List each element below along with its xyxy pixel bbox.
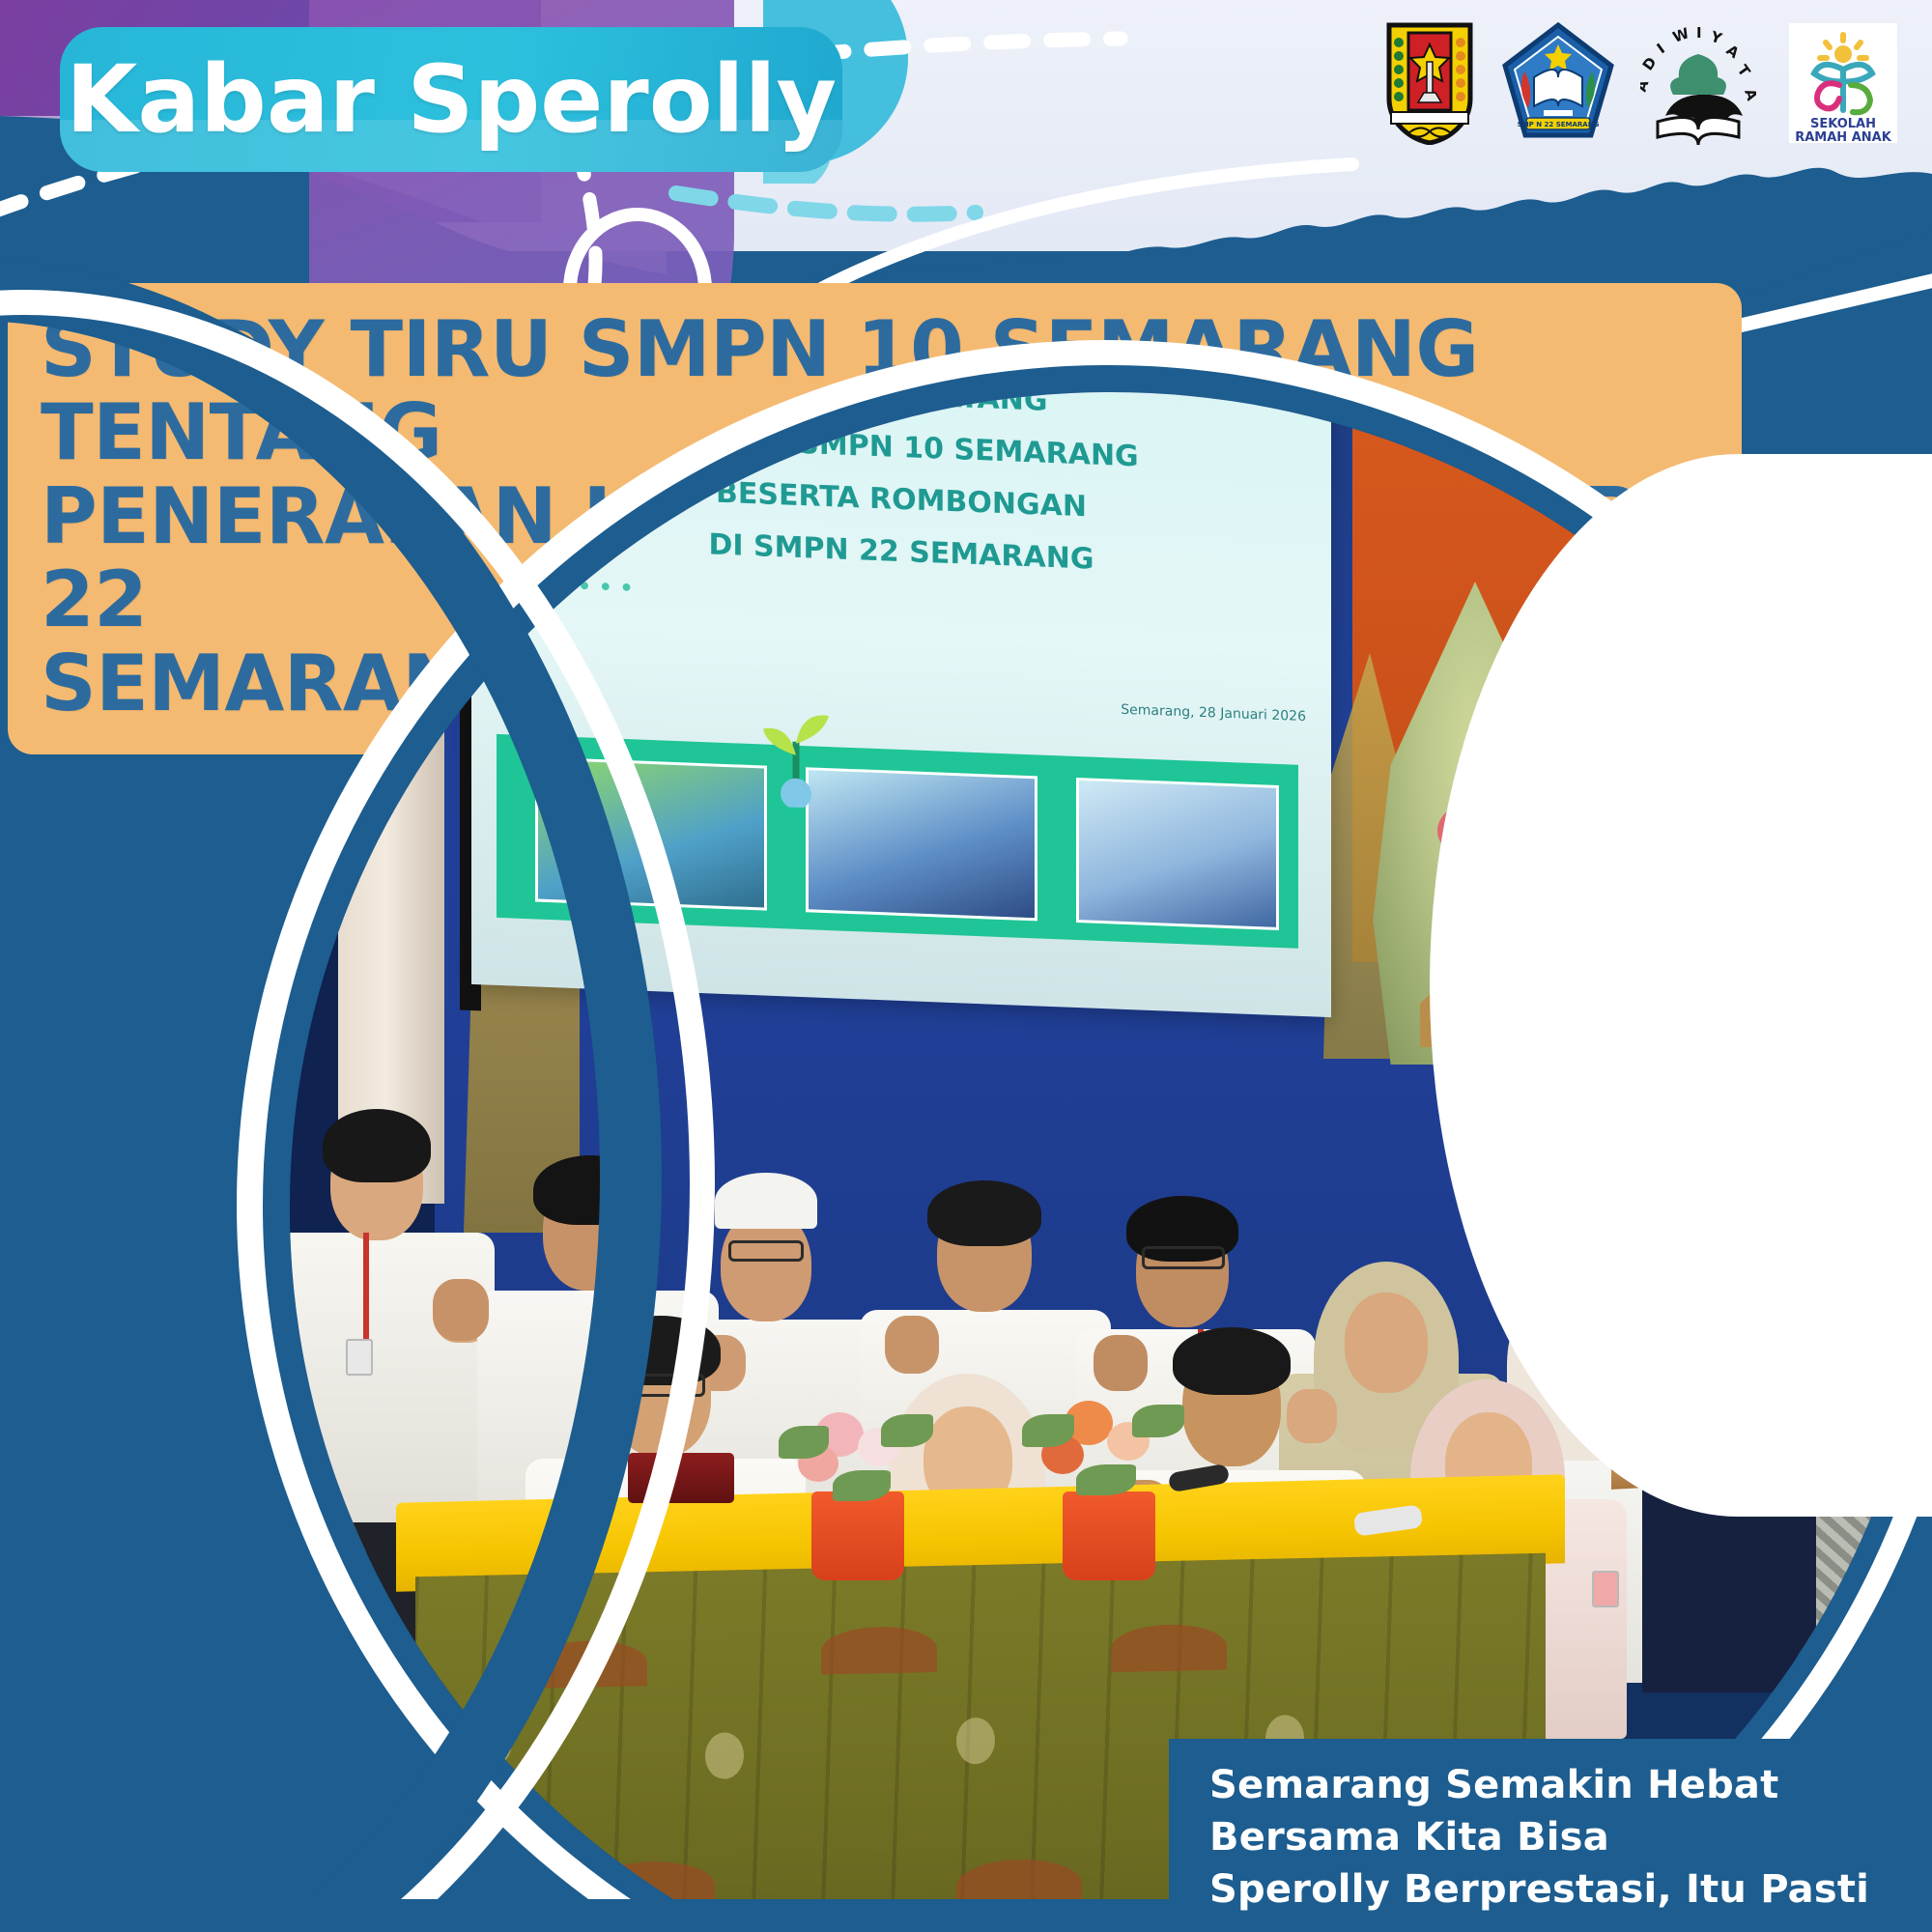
slide-sprout-icon: [757, 699, 835, 809]
sekolah-ramah-anak-logo-icon: SEKOLAH RAMAH ANAK: [1781, 21, 1905, 145]
logo-row: SMP N 22 SEMARANG A D I W I Y A T A: [1383, 21, 1905, 145]
svg-text:I: I: [1654, 40, 1668, 57]
bottom-blue-bar: [0, 1899, 1169, 1932]
slide-date: Semarang, 28 Januari 2026: [1121, 702, 1306, 724]
tagline-line-3: Sperolly Berprestasi, Itu Pasti: [1209, 1867, 1905, 1912]
svg-text:A: A: [1723, 42, 1743, 63]
slide-bullet-dots: • • •: [578, 575, 634, 601]
semarang-city-crest-icon: [1383, 21, 1476, 145]
smpn22-school-logo-icon: SMP N 22 SEMARANG: [1501, 21, 1615, 145]
tagline-line-2: Bersama Kita Bisa: [1209, 1815, 1905, 1860]
tagline-block: Semarang Semakin Hebat Bersama Kita Bisa…: [1169, 1739, 1932, 1932]
svg-text:A: A: [1640, 77, 1653, 94]
tagline-line-1: Semarang Semakin Hebat: [1209, 1763, 1905, 1807]
svg-text:A: A: [1741, 87, 1756, 103]
svg-text:W: W: [1670, 24, 1691, 46]
poster-canvas: Kabar Sperolly: [0, 0, 1932, 1932]
svg-text:I: I: [1696, 24, 1702, 42]
slide-thumb-2: [806, 767, 1037, 921]
svg-text:RAMAH ANAK: RAMAH ANAK: [1795, 130, 1891, 145]
svg-text:T: T: [1734, 62, 1754, 80]
svg-text:Y: Y: [1708, 27, 1725, 47]
photo-bouquet-2: [1012, 1378, 1206, 1522]
svg-text:SMP N 22 SEMARANG: SMP N 22 SEMARANG: [1518, 121, 1600, 128]
svg-text:SEKOLAH: SEKOLAH: [1810, 117, 1876, 131]
kabar-sperolly-label: Kabar Sperolly: [60, 27, 842, 172]
svg-text:D: D: [1640, 54, 1661, 74]
photo-bouquet-1: [765, 1385, 958, 1530]
adiwiyata-logo-icon: A D I W I Y A T A: [1640, 21, 1756, 145]
slide-thumb-3: [1076, 778, 1279, 930]
